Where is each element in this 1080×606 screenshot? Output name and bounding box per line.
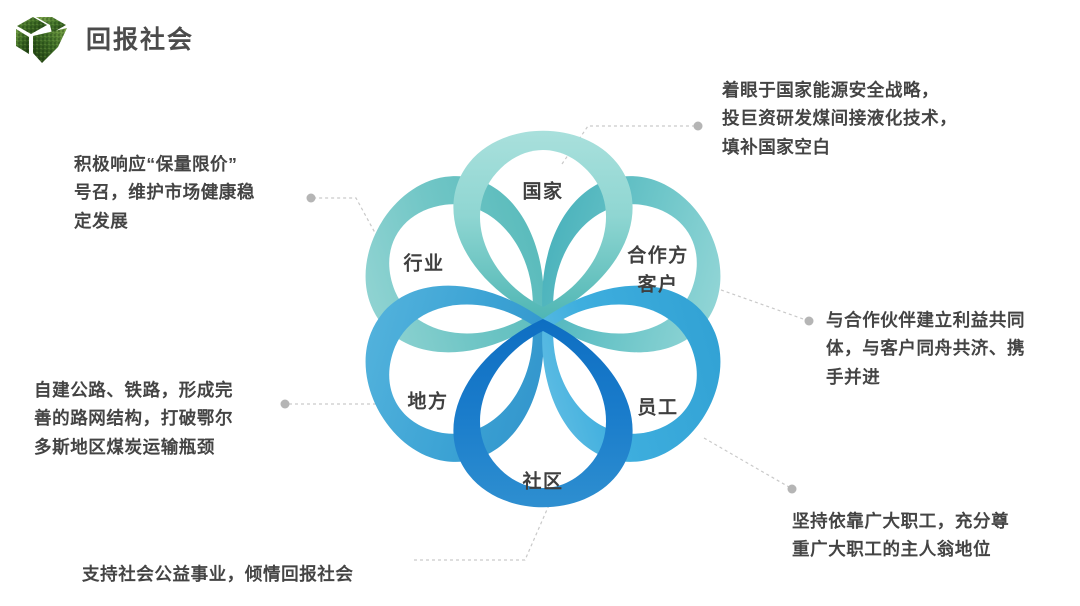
callout-industry: 积极响应“保量限价” 号召，维护市场健康稳 定发展 <box>74 150 255 235</box>
callout-partner-line3: 手并进 <box>826 363 1025 391</box>
callout-local: 自建公路、铁路，形成完 善的路网结构，打破鄂尔 多斯地区煤炭运输瓶颈 <box>34 376 233 461</box>
callout-industry-line3: 定发展 <box>74 207 255 235</box>
slide-canvas: 回报社会 <box>0 0 1080 606</box>
callout-local-line2: 善的路网结构，打破鄂尔 <box>34 404 233 432</box>
callout-country-line2: 投巨资研发煤间接液化技术， <box>722 104 957 132</box>
slide-header: 回报社会 <box>14 14 194 66</box>
green-textured-diamond-arrow-logo-icon <box>14 14 72 66</box>
callout-employee-line1: 坚持依靠广大职工，充分尊 <box>792 507 1009 535</box>
callout-country: 着眼于国家能源安全战略， 投巨资研发煤间接液化技术， 填补国家空白 <box>722 76 957 161</box>
callout-local-line1: 自建公路、铁路，形成完 <box>34 376 233 404</box>
callout-partner-line1: 与合作伙伴建立利益共同 <box>826 306 1025 334</box>
callout-employee: 坚持依靠广大职工，充分尊 重广大职工的主人翁地位 <box>792 507 1009 564</box>
company-logo <box>14 14 72 66</box>
callout-local-line3: 多斯地区煤炭运输瓶颈 <box>34 433 233 461</box>
callout-employee-line2: 重广大职工的主人翁地位 <box>792 535 1009 563</box>
callout-community-line1: 支持社会公益事业，倾情回报社会 <box>82 560 354 588</box>
callout-partner: 与合作伙伴建立利益共同 体，与客户同舟共济、携 手并进 <box>826 306 1025 391</box>
connector-dot-employee <box>788 485 797 494</box>
callout-country-line1: 着眼于国家能源安全战略， <box>722 76 957 104</box>
connector-dot-industry <box>307 194 316 203</box>
callout-industry-line1: 积极响应“保量限价” <box>74 150 255 178</box>
stakeholder-flower-diagram: 国家 合作方 客户 员工 社区 地方 行业 <box>328 104 758 524</box>
connector-dot-local <box>281 400 290 409</box>
callout-community: 支持社会公益事业，倾情回报社会 <box>82 560 354 588</box>
callout-industry-line2: 号召，维护市场健康稳 <box>74 178 255 206</box>
connector-dot-partner <box>805 317 814 326</box>
callout-country-line3: 填补国家空白 <box>722 133 957 161</box>
callout-partner-line2: 体，与客户同舟共济、携 <box>826 334 1025 362</box>
page-title: 回报社会 <box>86 28 194 53</box>
flower-petals <box>328 104 758 524</box>
